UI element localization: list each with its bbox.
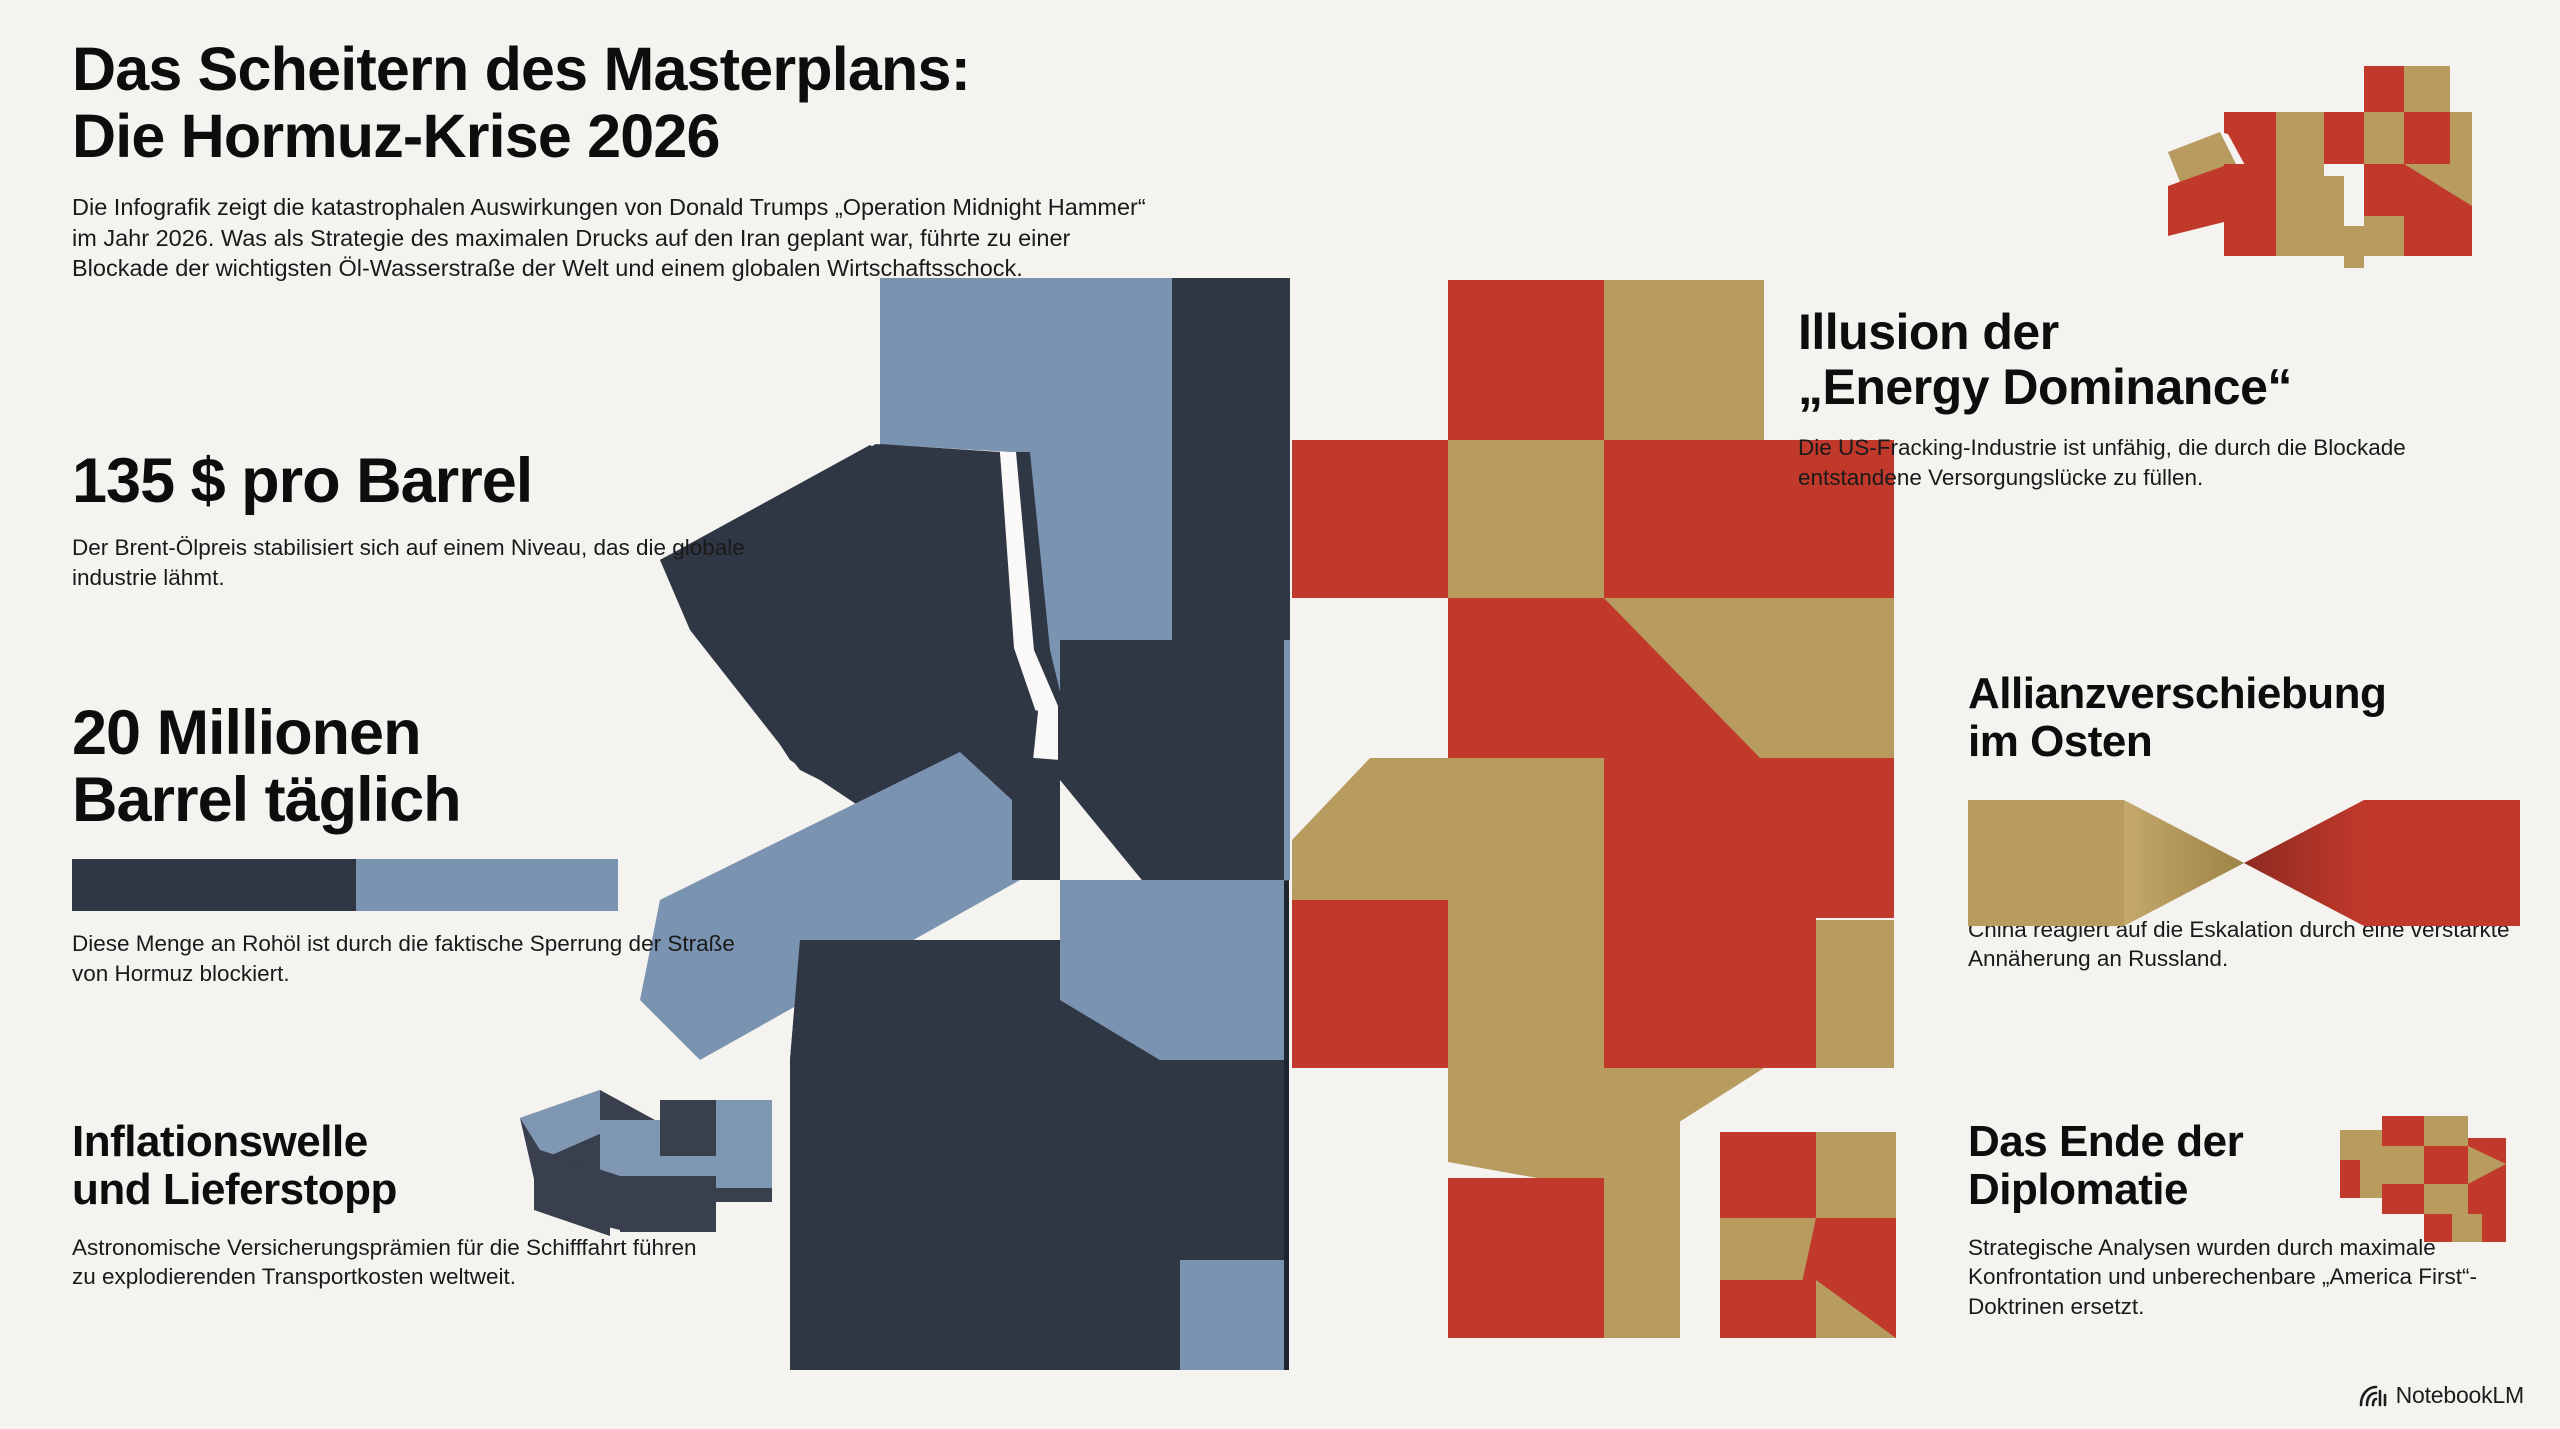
energy-heading-line2: „Energy Dominance“ [1798, 359, 2292, 415]
alliance-heading-line1: Allianzverschiebung [1968, 669, 2386, 718]
blocked-barrels-bar [72, 859, 618, 911]
notebooklm-logo-icon [2359, 1385, 2387, 1407]
blocked-barrels-bar-fill [72, 859, 356, 911]
page-title-line2: Die Hormuz-Krise 2026 [72, 102, 720, 170]
notebooklm-watermark: NotebookLM [2359, 1382, 2524, 1409]
diplomacy-heading: Das Ende der Diplomatie [1968, 1118, 2388, 1215]
intro-paragraph: Die Infografik zeigt die katastrophalen … [72, 192, 1162, 284]
energy-description: Die US-Fracking-Industrie ist unfähig, d… [1798, 433, 2518, 492]
infographic-poster: Das Scheitern des Masterplans: Die Hormu… [0, 0, 2560, 1429]
title-block: Das Scheitern des Masterplans: Die Hormu… [72, 36, 1272, 284]
notebooklm-watermark-label: NotebookLM [2396, 1382, 2524, 1409]
section-energy-dominance: Illusion der „Energy Dominance“ Die US-F… [1798, 305, 2518, 492]
oil-price-value: 135 $ pro Barrel [72, 448, 832, 515]
barrels-value-line1: 20 Millionen [72, 698, 421, 768]
decorative-blocks-top-right-icon [2168, 36, 2504, 268]
barrels-description: Diese Menge an Rohöl ist durch die fakti… [72, 929, 772, 988]
barrels-value-line2: Barrel täglich [72, 765, 461, 835]
page-title-line1: Das Scheitern des Masterplans: [72, 35, 970, 103]
stat-blocked-barrels: 20 Millionen Barrel täglich Diese Menge … [72, 700, 772, 988]
stat-oil-price: 135 $ pro Barrel Der Brent-Ölpreis stabi… [72, 448, 832, 593]
divider-line [1284, 278, 1289, 1370]
inflation-heading-line2: und Lieferstopp [72, 1165, 397, 1214]
section-end-of-diplomacy: Das Ende der Diplomatie Strategische Ana… [1968, 1118, 2388, 1322]
diplomacy-heading-line2: Diplomatie [1968, 1165, 2188, 1214]
oil-price-description: Der Brent-Ölpreis stabilisiert sich auf … [72, 533, 832, 592]
energy-heading-line1: Illusion der [1798, 304, 2059, 360]
diplomacy-heading-line1: Das Ende der [1968, 1117, 2243, 1166]
inflation-description: Astronomische Versicherungsprämien für d… [72, 1233, 712, 1292]
inflation-heading-line1: Inflationswelle [72, 1117, 368, 1166]
barrels-value: 20 Millionen Barrel täglich [72, 700, 772, 835]
energy-heading: Illusion der „Energy Dominance“ [1798, 305, 2518, 415]
alliance-description: China reagiert auf die Eskalation durch … [1968, 915, 2528, 974]
section-inflation: Inflationswelle und Lieferstopp Astronom… [72, 1118, 712, 1292]
page-title: Das Scheitern des Masterplans: Die Hormu… [72, 36, 1272, 170]
alliance-heading: Allianzverschiebung im Osten [1968, 670, 2528, 767]
section-alliance-shift: Allianzverschiebung im Osten China reagi… [1968, 670, 2528, 974]
alliance-heading-line2: im Osten [1968, 717, 2152, 766]
inflation-heading: Inflationswelle und Lieferstopp [72, 1118, 712, 1215]
diplomacy-description: Strategische Analysen wurden durch maxim… [1968, 1233, 2528, 1322]
